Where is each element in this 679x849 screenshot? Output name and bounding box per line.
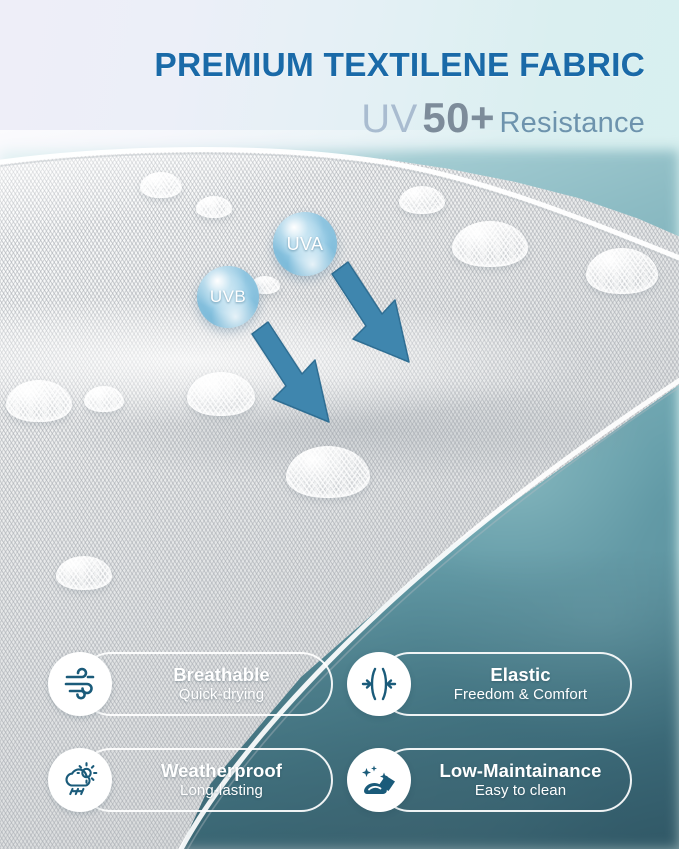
feature-text: Low-Maintainance Easy to clean — [419, 742, 622, 818]
uv-rating-subtitle: UV 50+ Resistance — [361, 97, 645, 139]
feature-text: Elastic Freedom & Comfort — [419, 646, 622, 722]
feature-subtitle: Freedom & Comfort — [454, 685, 587, 705]
product-feature-poster: PREMIUM TEXTILENE FABRIC UV 50+ Resistan… — [0, 0, 679, 849]
uv-label: UV — [361, 97, 418, 141]
feature-text: Breathable Quick-drying — [120, 646, 323, 722]
feature-text: Weatherproof Long-lasting — [120, 742, 323, 818]
elastic-stretch-icon — [347, 652, 411, 716]
uvb-bubble-label: UVB — [210, 287, 246, 307]
feature-title: Low-Maintainance — [440, 760, 602, 781]
uvb-bubble: UVB — [197, 266, 259, 328]
page-title: PREMIUM TEXTILENE FABRIC — [154, 47, 645, 85]
feature-list: Breathable Quick-drying Elastic Freedom … — [48, 646, 632, 818]
feature-low-maintenance[interactable]: Low-Maintainance Easy to clean — [347, 742, 632, 818]
feature-elastic[interactable]: Elastic Freedom & Comfort — [347, 646, 632, 722]
wind-icon — [48, 652, 112, 716]
resistance-label: Resistance — [500, 107, 645, 139]
uva-bubble: UVA — [273, 212, 337, 276]
uva-bubble-label: UVA — [287, 234, 324, 255]
feature-title: Elastic — [490, 664, 550, 685]
feature-breathable[interactable]: Breathable Quick-drying — [48, 646, 333, 722]
feature-subtitle: Long-lasting — [180, 781, 263, 801]
cleaning-sparkle-icon — [347, 748, 411, 812]
feature-weatherproof[interactable]: Weatherproof Long-lasting — [48, 742, 333, 818]
feature-title: Breathable — [173, 664, 270, 685]
sun-cloud-rain-icon — [48, 748, 112, 812]
feature-subtitle: Quick-drying — [179, 685, 264, 705]
uv-rating-value: 50+ — [422, 94, 495, 141]
feature-title: Weatherproof — [161, 760, 282, 781]
feature-subtitle: Easy to clean — [475, 781, 566, 801]
